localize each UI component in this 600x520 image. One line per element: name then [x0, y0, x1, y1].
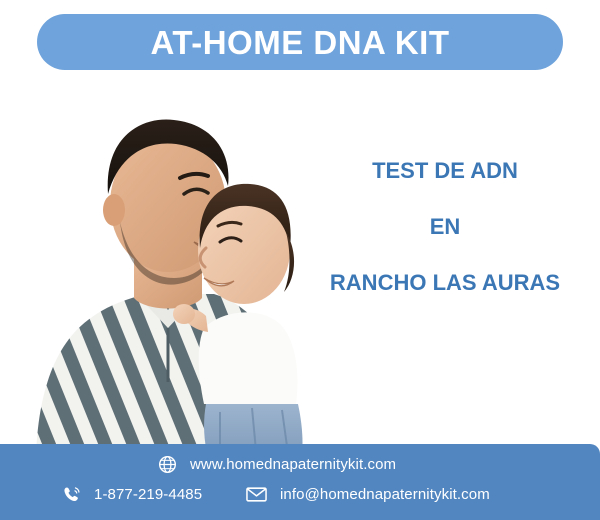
child-shirt	[199, 312, 298, 404]
family-photo	[8, 82, 318, 482]
man-ear	[103, 194, 125, 226]
child-hand	[173, 304, 195, 324]
headline-line-3: RANCHO LAS AURAS	[300, 272, 590, 294]
family-photo-illustration	[8, 82, 318, 482]
phone-label: 1-877-219-4485	[94, 486, 202, 503]
banner-title: AT-HOME DNA KIT	[151, 26, 450, 59]
website-label: www.homednapaternitykit.com	[190, 456, 396, 473]
footer-phone[interactable]: 1-877-219-4485	[62, 485, 202, 504]
globe-icon	[158, 455, 177, 474]
envelope-icon	[246, 485, 267, 504]
footer-email[interactable]: info@homednapaternitykit.com	[246, 485, 490, 504]
headline-line-1: TEST DE ADN	[300, 160, 590, 182]
headline-line-2: EN	[300, 216, 590, 238]
footer-website[interactable]: www.homednapaternitykit.com	[158, 455, 396, 474]
header-banner: AT-HOME DNA KIT	[37, 14, 563, 70]
headline-block: TEST DE ADN EN RANCHO LAS AURAS	[300, 160, 590, 294]
banner-container: AT-HOME DNA KIT	[0, 14, 600, 70]
phone-icon	[62, 485, 81, 504]
poster: AT-HOME DNA KIT	[0, 0, 600, 520]
footer-bar: www.homednapaternitykit.com 1-877-219-44…	[0, 444, 600, 520]
email-label: info@homednapaternitykit.com	[280, 486, 490, 503]
